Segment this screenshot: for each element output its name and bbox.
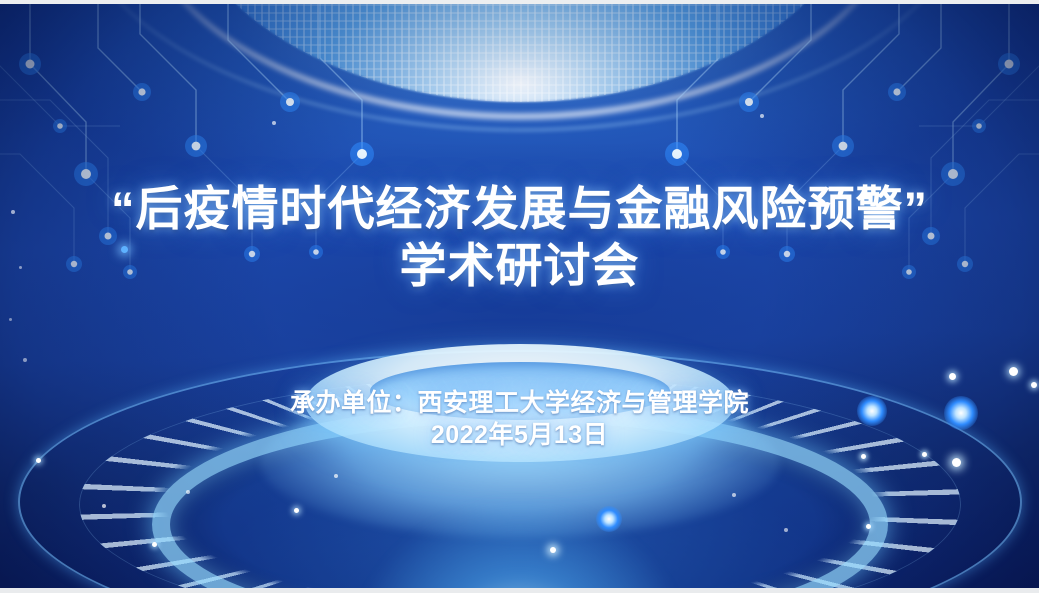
- event-date: 2022年5月13日: [0, 419, 1039, 451]
- host-organization: 承办单位：西安理工大学经济与管理学院: [0, 387, 1039, 419]
- title-line-1: “后疫情时代经济发展与金融风险预警”: [0, 180, 1039, 237]
- conference-title-slide: “后疫情时代经济发展与金融风险预警” 学术研讨会 承办单位：西安理工大学经济与管…: [0, 0, 1039, 593]
- subtitle-block: 承办单位：西安理工大学经济与管理学院 2022年5月13日: [0, 387, 1039, 451]
- title-line-2: 学术研讨会: [0, 237, 1039, 294]
- title-block: “后疫情时代经济发展与金融风险预警” 学术研讨会: [0, 180, 1039, 294]
- tech-circular-podium: [0, 310, 1039, 593]
